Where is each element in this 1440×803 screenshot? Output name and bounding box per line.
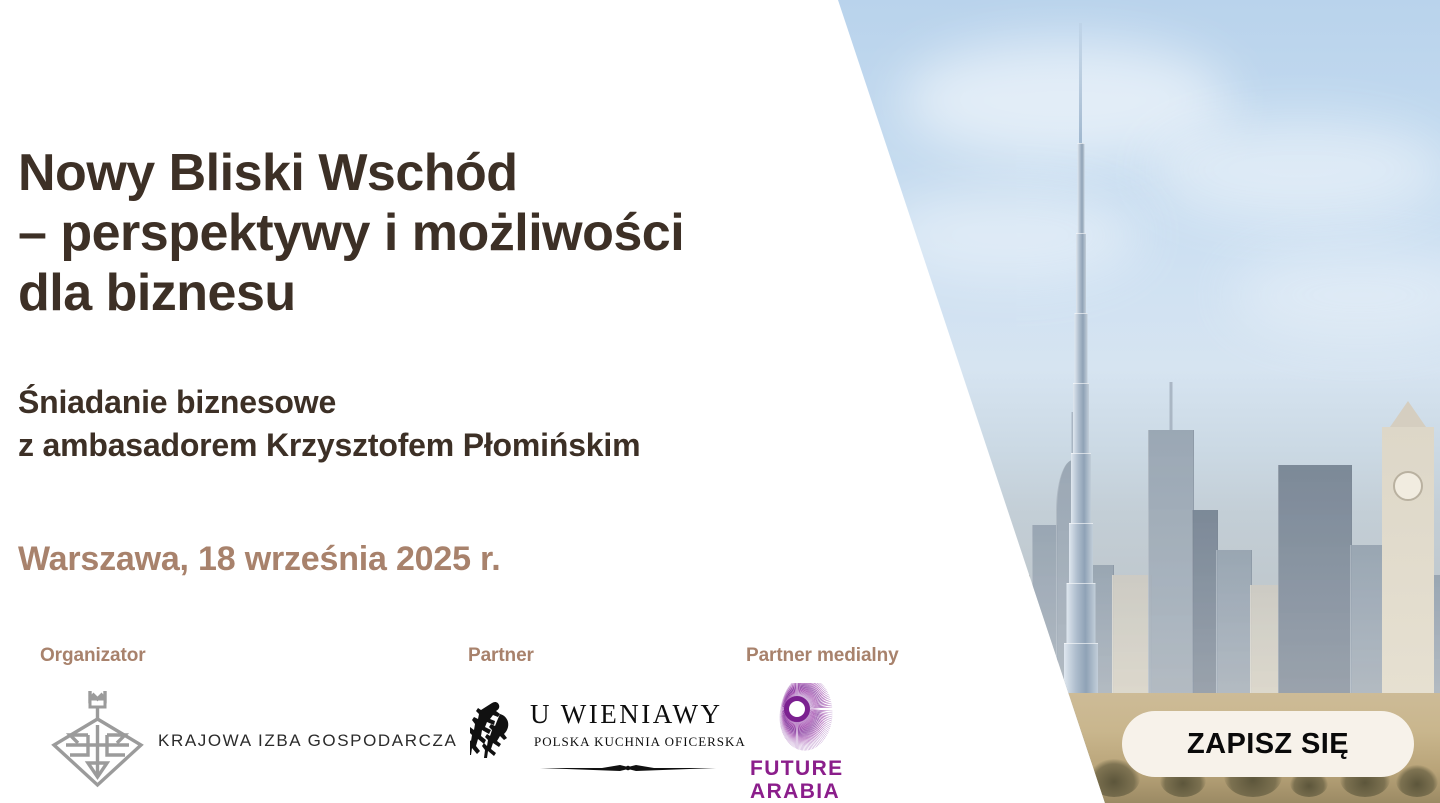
organizer-block: Organizator <box>40 645 440 795</box>
future-arabia-line-1: FUTURE <box>750 757 844 780</box>
text-column: Nowy Bliski Wschód – perspektywy i możli… <box>0 0 860 803</box>
kig-diamond-crown-icon <box>48 685 148 791</box>
organizer-name: KRAJOWA IZBA GOSPODARCZA <box>158 731 457 751</box>
tower-segment <box>1075 313 1088 383</box>
tower-segment <box>1073 383 1089 453</box>
tower-segment <box>1071 453 1091 523</box>
building <box>1148 430 1194 695</box>
logo-strip: Organizator <box>0 645 980 803</box>
building <box>1216 550 1252 695</box>
subheadline-line-1: Śniadanie biznesowe <box>18 381 858 424</box>
building <box>1112 575 1152 695</box>
future-arabia-logo: FUTURE ARABIA <box>746 683 956 801</box>
media-partner-label: Partner medialny <box>746 645 966 667</box>
clock-face-icon <box>1393 471 1423 501</box>
organizer-label: Organizator <box>40 645 440 667</box>
skyline-buildings <box>840 315 1440 695</box>
headline-line-1: Nowy Bliski Wschód <box>18 143 848 203</box>
building <box>1032 525 1058 695</box>
media-partner-name: FUTURE ARABIA <box>750 757 844 803</box>
tower-roof <box>1390 401 1426 427</box>
partner-label: Partner <box>468 645 718 667</box>
radial-burst-icon <box>760 683 834 757</box>
clock-tower <box>1382 427 1434 695</box>
u-wieniawy-logo: U WIENIAWY POLSKA KUCHNIA OFICERSKA <box>468 689 718 789</box>
tree <box>1396 765 1438 797</box>
tower-segment <box>1078 143 1085 233</box>
page-subtitle: Śniadanie biznesowe z ambasadorem Krzysz… <box>18 381 858 467</box>
headline-line-3: dla biznesu <box>18 263 848 323</box>
tree <box>1020 767 1060 797</box>
tower-segment <box>1064 643 1098 698</box>
partner-name: U WIENIAWY <box>530 699 723 730</box>
building <box>1278 465 1352 695</box>
decorative-divider <box>540 759 716 767</box>
tower-segment <box>1067 583 1096 643</box>
building <box>1350 545 1386 695</box>
tower-segment <box>1069 523 1093 583</box>
media-partner-block: Partner medialny <box>746 645 966 795</box>
cloud <box>1150 120 1440 220</box>
future-arabia-line-2: ARABIA <box>750 780 844 803</box>
partner-block: Partner U WIENIAWY <box>468 645 718 795</box>
horseman-emblem-icon <box>470 697 518 775</box>
building <box>990 575 1030 695</box>
burj-khalifa-tower <box>1056 23 1106 763</box>
subheadline-line-2: z ambasadorem Krzysztofem Płomińskim <box>18 424 858 467</box>
tower-spire <box>1079 23 1082 143</box>
tower-segment <box>1076 233 1086 313</box>
partner-tagline: POLSKA KUCHNIA OFICERSKA <box>534 734 746 750</box>
building <box>1250 585 1280 695</box>
register-button[interactable]: ZAPISZ SIĘ <box>1122 711 1414 777</box>
event-banner: Nowy Bliski Wschód – perspektywy i możli… <box>0 0 1440 803</box>
page-title: Nowy Bliski Wschód – perspektywy i możli… <box>18 143 848 323</box>
building <box>1192 510 1218 695</box>
event-date-location: Warszawa, 18 września 2025 r. <box>18 540 500 579</box>
headline-line-2: – perspektywy i możliwości <box>18 203 848 263</box>
